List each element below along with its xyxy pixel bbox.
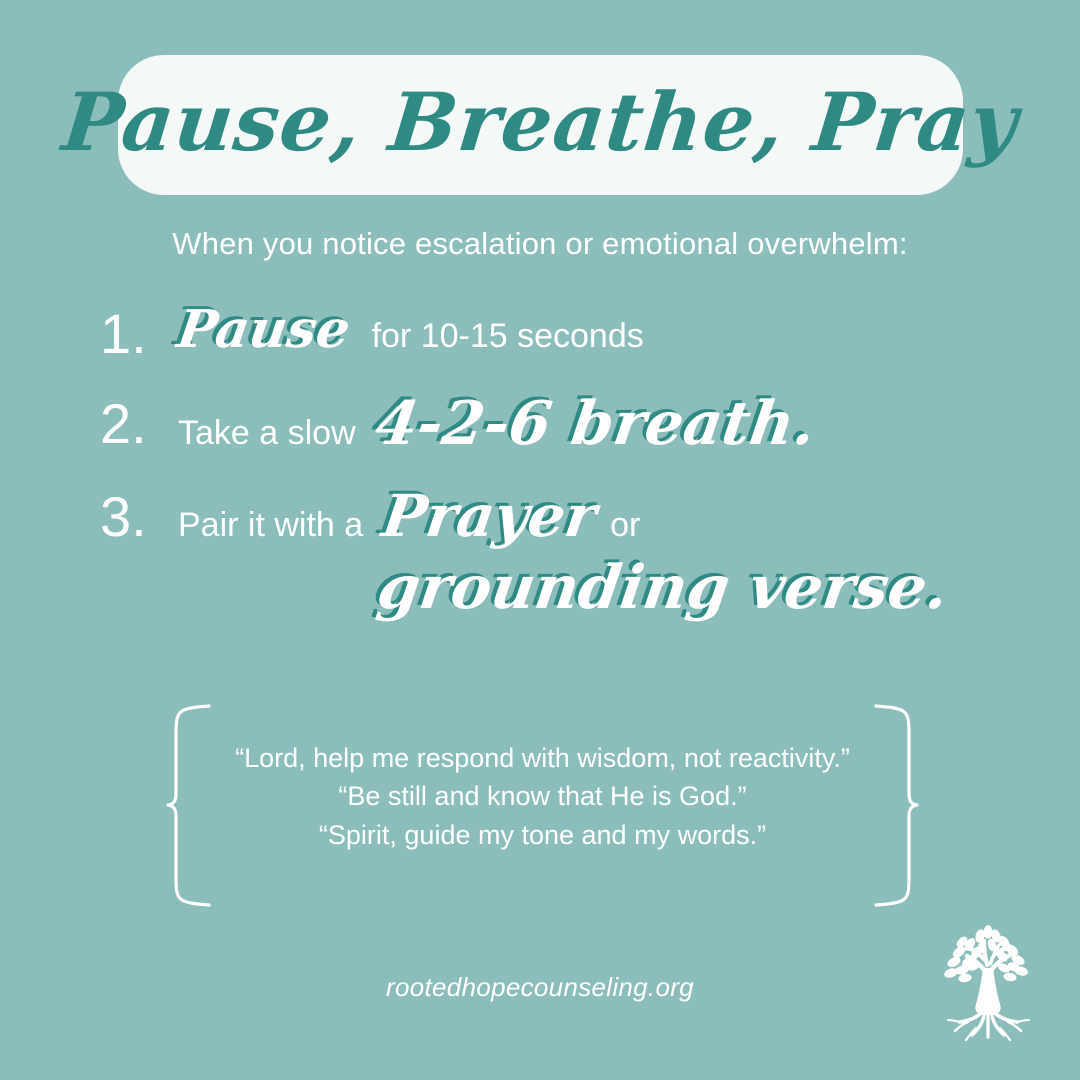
step-line-1: Pause for 10-15 seconds: [178, 304, 1000, 358]
step-number-1: 1.: [100, 300, 178, 362]
step-body-1: Pause for 10-15 seconds: [178, 300, 1000, 358]
step-line-2: Take a slow 4-2-6 breath.: [178, 394, 1000, 455]
left-curly-brace-icon: [165, 703, 211, 908]
step-3-script-word-2: grounding verse.: [374, 558, 952, 618]
right-curly-brace-icon: [874, 703, 920, 908]
step-3-plain-text: Pair it with a: [178, 504, 363, 547]
title-card: Pause, Breathe, Pray: [118, 55, 963, 195]
step-item-1: 1. Pause for 10-15 seconds: [100, 300, 1000, 362]
step-body-3: Pair it with a Prayer or grounding verse…: [178, 483, 1000, 619]
steps-list: 1. Pause for 10-15 seconds 2. Take a slo…: [100, 300, 1000, 618]
step-3-script-word: Prayer: [379, 487, 600, 545]
website-url: rootedhopecounseling.org: [0, 972, 1080, 1003]
quote-line-3: “Spirit, guide my tone and my words.”: [225, 816, 860, 854]
step-item-3: 3. Pair it with a Prayer or grounding ve…: [100, 483, 1000, 619]
step-3-conjunction: or: [610, 504, 640, 547]
step-line-3b: grounding verse.: [378, 558, 1000, 618]
step-item-2: 2. Take a slow 4-2-6 breath.: [100, 390, 1000, 455]
page-title: Pause, Breathe, Pray: [59, 82, 1023, 168]
quote-line-2: “Be still and know that He is God.”: [225, 777, 860, 815]
step-number-2: 2.: [100, 390, 178, 452]
step-line-3a: Pair it with a Prayer or: [178, 487, 1000, 547]
step-number-3: 3.: [100, 483, 178, 545]
tree-with-roots-icon: [924, 920, 1052, 1048]
quote-line-1: “Lord, help me respond with wisdom, not …: [225, 739, 860, 777]
step-2-plain-text: Take a slow: [178, 412, 356, 455]
subtitle-text: When you notice escalation or emotional …: [0, 226, 1080, 262]
step-1-plain-text: for 10-15 seconds: [372, 315, 644, 358]
quote-lines: “Lord, help me respond with wisdom, not …: [225, 739, 860, 854]
step-body-2: Take a slow 4-2-6 breath.: [178, 390, 1000, 455]
step-2-script-word: 4-2-6 breath.: [371, 394, 818, 454]
step-1-script-word: Pause: [174, 304, 353, 356]
poster-canvas: Pause, Breathe, Pray When you notice esc…: [0, 0, 1080, 1080]
quote-block: “Lord, help me respond with wisdom, not …: [165, 703, 920, 908]
